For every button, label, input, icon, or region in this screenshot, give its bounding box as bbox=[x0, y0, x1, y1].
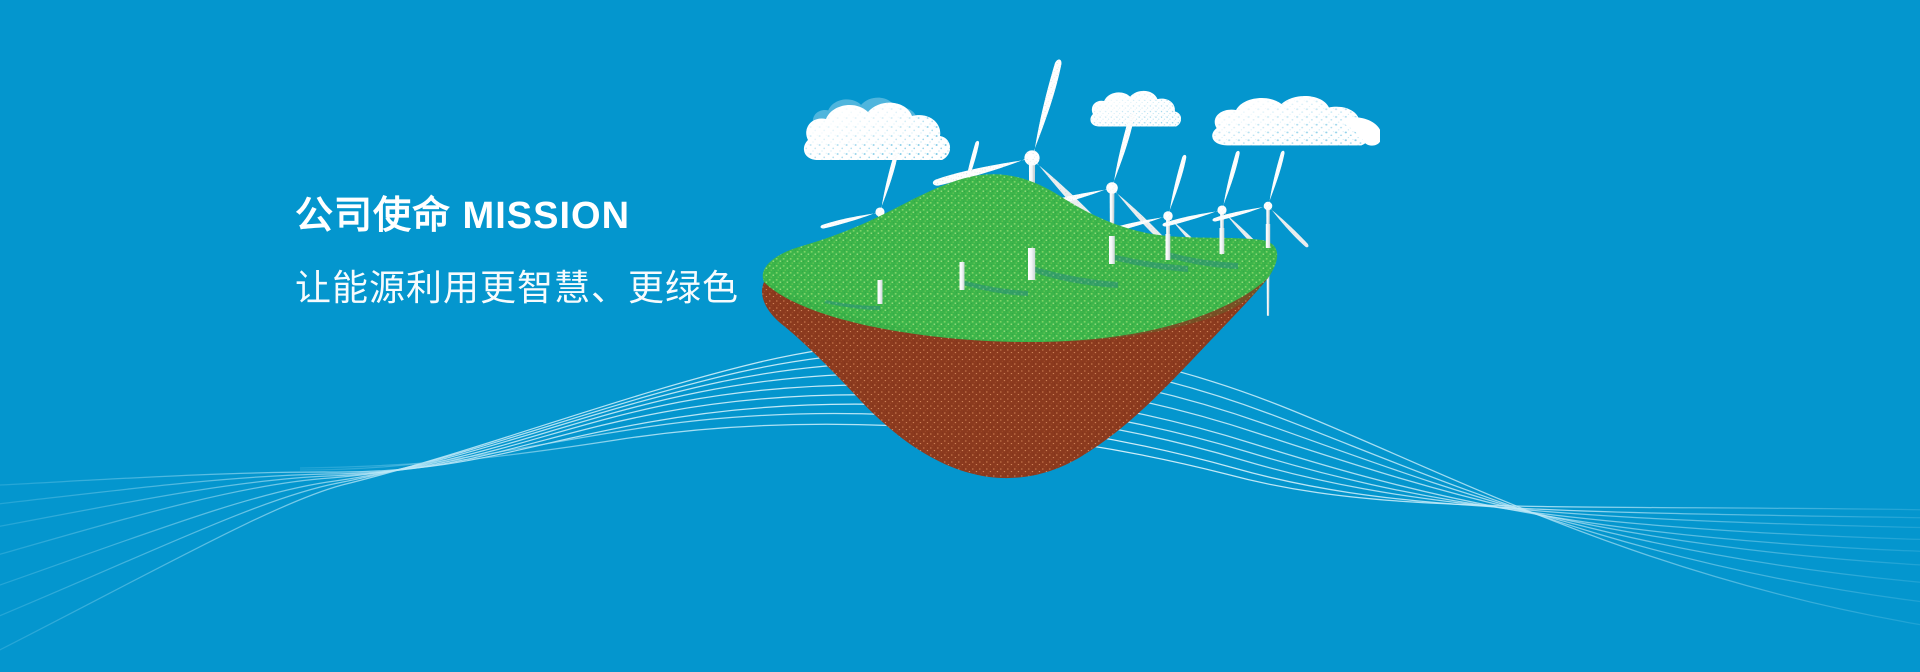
cloud-right-icon bbox=[1212, 96, 1380, 146]
floating-island bbox=[762, 174, 1277, 478]
page-title: 公司使命 MISSION bbox=[295, 190, 815, 242]
mission-banner: 公司使命 MISSION 让能源利用更智慧、更绿色 bbox=[0, 0, 1920, 672]
wind-farm-illustration bbox=[740, 40, 1380, 510]
page-subtitle: 让能源利用更智慧、更绿色 bbox=[295, 262, 815, 314]
cloud-middle-icon bbox=[1090, 91, 1181, 127]
cloud-group bbox=[804, 91, 1380, 160]
cloud-left-icon bbox=[804, 98, 950, 160]
mission-text-block: 公司使命 MISSION 让能源利用更智慧、更绿色 bbox=[295, 190, 815, 314]
